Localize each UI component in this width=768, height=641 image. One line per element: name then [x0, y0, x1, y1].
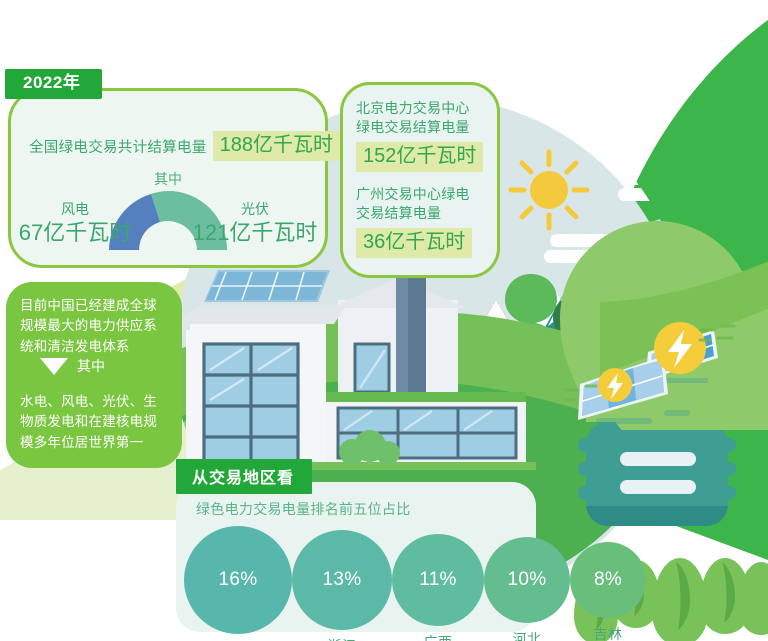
region-item: 10%河北: [484, 526, 570, 641]
solar-breakdown: 光伏 121亿千瓦时: [187, 199, 323, 244]
lightning-bolt-icon: [654, 322, 706, 374]
region-name: 吉林: [594, 624, 623, 641]
wind-value: 67亿千瓦时: [17, 221, 133, 244]
region-name: 浙江: [328, 636, 357, 641]
national-total-card: 2022年 全国绿电交易共计结算电量 188亿千瓦时 其中 风电 67亿千瓦时 …: [8, 88, 328, 268]
beijing-centre-title-line1: 北京电力交易中心: [356, 99, 496, 118]
solar-panel-icon: [204, 270, 330, 302]
guangzhou-centre-value: 36亿千瓦时: [356, 228, 472, 258]
regions-subtitle: 绿色电力交易电量排名前五位占比: [196, 499, 411, 519]
wind-breakdown: 风电 67亿千瓦时: [17, 199, 133, 244]
green-statement-text: 目前中国已经建成全球规模最大的电力供应系统和清洁发电体系: [20, 296, 170, 357]
region-percent-bubble: 10%: [484, 537, 570, 623]
bulb-base: [578, 422, 736, 526]
region-name: 河北: [513, 629, 542, 641]
sun-icon: [511, 152, 587, 228]
region-percent-bubble: 8%: [570, 542, 646, 618]
regions-card: 绿色电力交易电量排名前五位占比 16%宁夏13%浙江11%广西10%河北8%吉林: [176, 482, 536, 632]
beijing-centre-value: 152亿千瓦时: [356, 142, 483, 172]
beijing-centre-block: 北京电力交易中心 绿电交易结算电量 152亿千瓦时: [356, 99, 496, 172]
among-label-national: 其中: [11, 169, 325, 189]
green-detail-text: 水电、风电、光伏、生物质发电和在建核电规模多年位居世界第一: [20, 392, 170, 453]
regions-banner: 从交易地区看: [176, 459, 312, 494]
solar-label: 光伏: [187, 199, 323, 219]
wind-label: 风电: [17, 199, 133, 219]
infographic-canvas: 2022年 全国绿电交易共计结算电量 188亿千瓦时 其中 风电 67亿千瓦时 …: [0, 0, 768, 641]
guangzhou-centre-title-line1: 广州交易中心绿电: [356, 185, 496, 204]
national-total-label: 全国绿电交易共计结算电量: [29, 136, 207, 157]
among-label-green: 其中: [77, 356, 105, 376]
guangzhou-centre-title-line2: 交易结算电量: [356, 204, 496, 223]
trading-centres-card: 北京电力交易中心 绿电交易结算电量 152亿千瓦时 广州交易中心绿电 交易结算电…: [340, 82, 500, 278]
year-badge: 2022年: [5, 69, 102, 99]
regions-bubble-chart: 16%宁夏13%浙江11%广西10%河北8%吉林: [184, 526, 528, 626]
region-percent-bubble: 11%: [392, 534, 484, 626]
among-marker: 其中: [40, 356, 105, 376]
region-item: 16%宁夏: [184, 526, 292, 641]
green-statement-card: 目前中国已经建成全球规模最大的电力供应系统和清洁发电体系 其中 水电、风电、光伏…: [6, 282, 182, 468]
national-total-value: 188亿千瓦时: [213, 131, 340, 161]
solar-value: 121亿千瓦时: [187, 221, 323, 244]
region-item: 13%浙江: [292, 526, 392, 641]
triangle-down-icon: [40, 358, 68, 375]
national-total-row: 全国绿电交易共计结算电量 188亿千瓦时: [29, 131, 319, 161]
beijing-centre-title-line2: 绿电交易结算电量: [356, 118, 496, 137]
region-percent-bubble: 13%: [292, 530, 392, 630]
region-item: 8%吉林: [570, 526, 646, 641]
region-item: 11%广西: [392, 526, 484, 641]
guangzhou-centre-block: 广州交易中心绿电 交易结算电量 36亿千瓦时: [356, 185, 496, 258]
region-percent-bubble: 16%: [184, 526, 292, 634]
lightning-bolt-icon: [598, 368, 632, 402]
region-name: 广西: [424, 632, 453, 641]
